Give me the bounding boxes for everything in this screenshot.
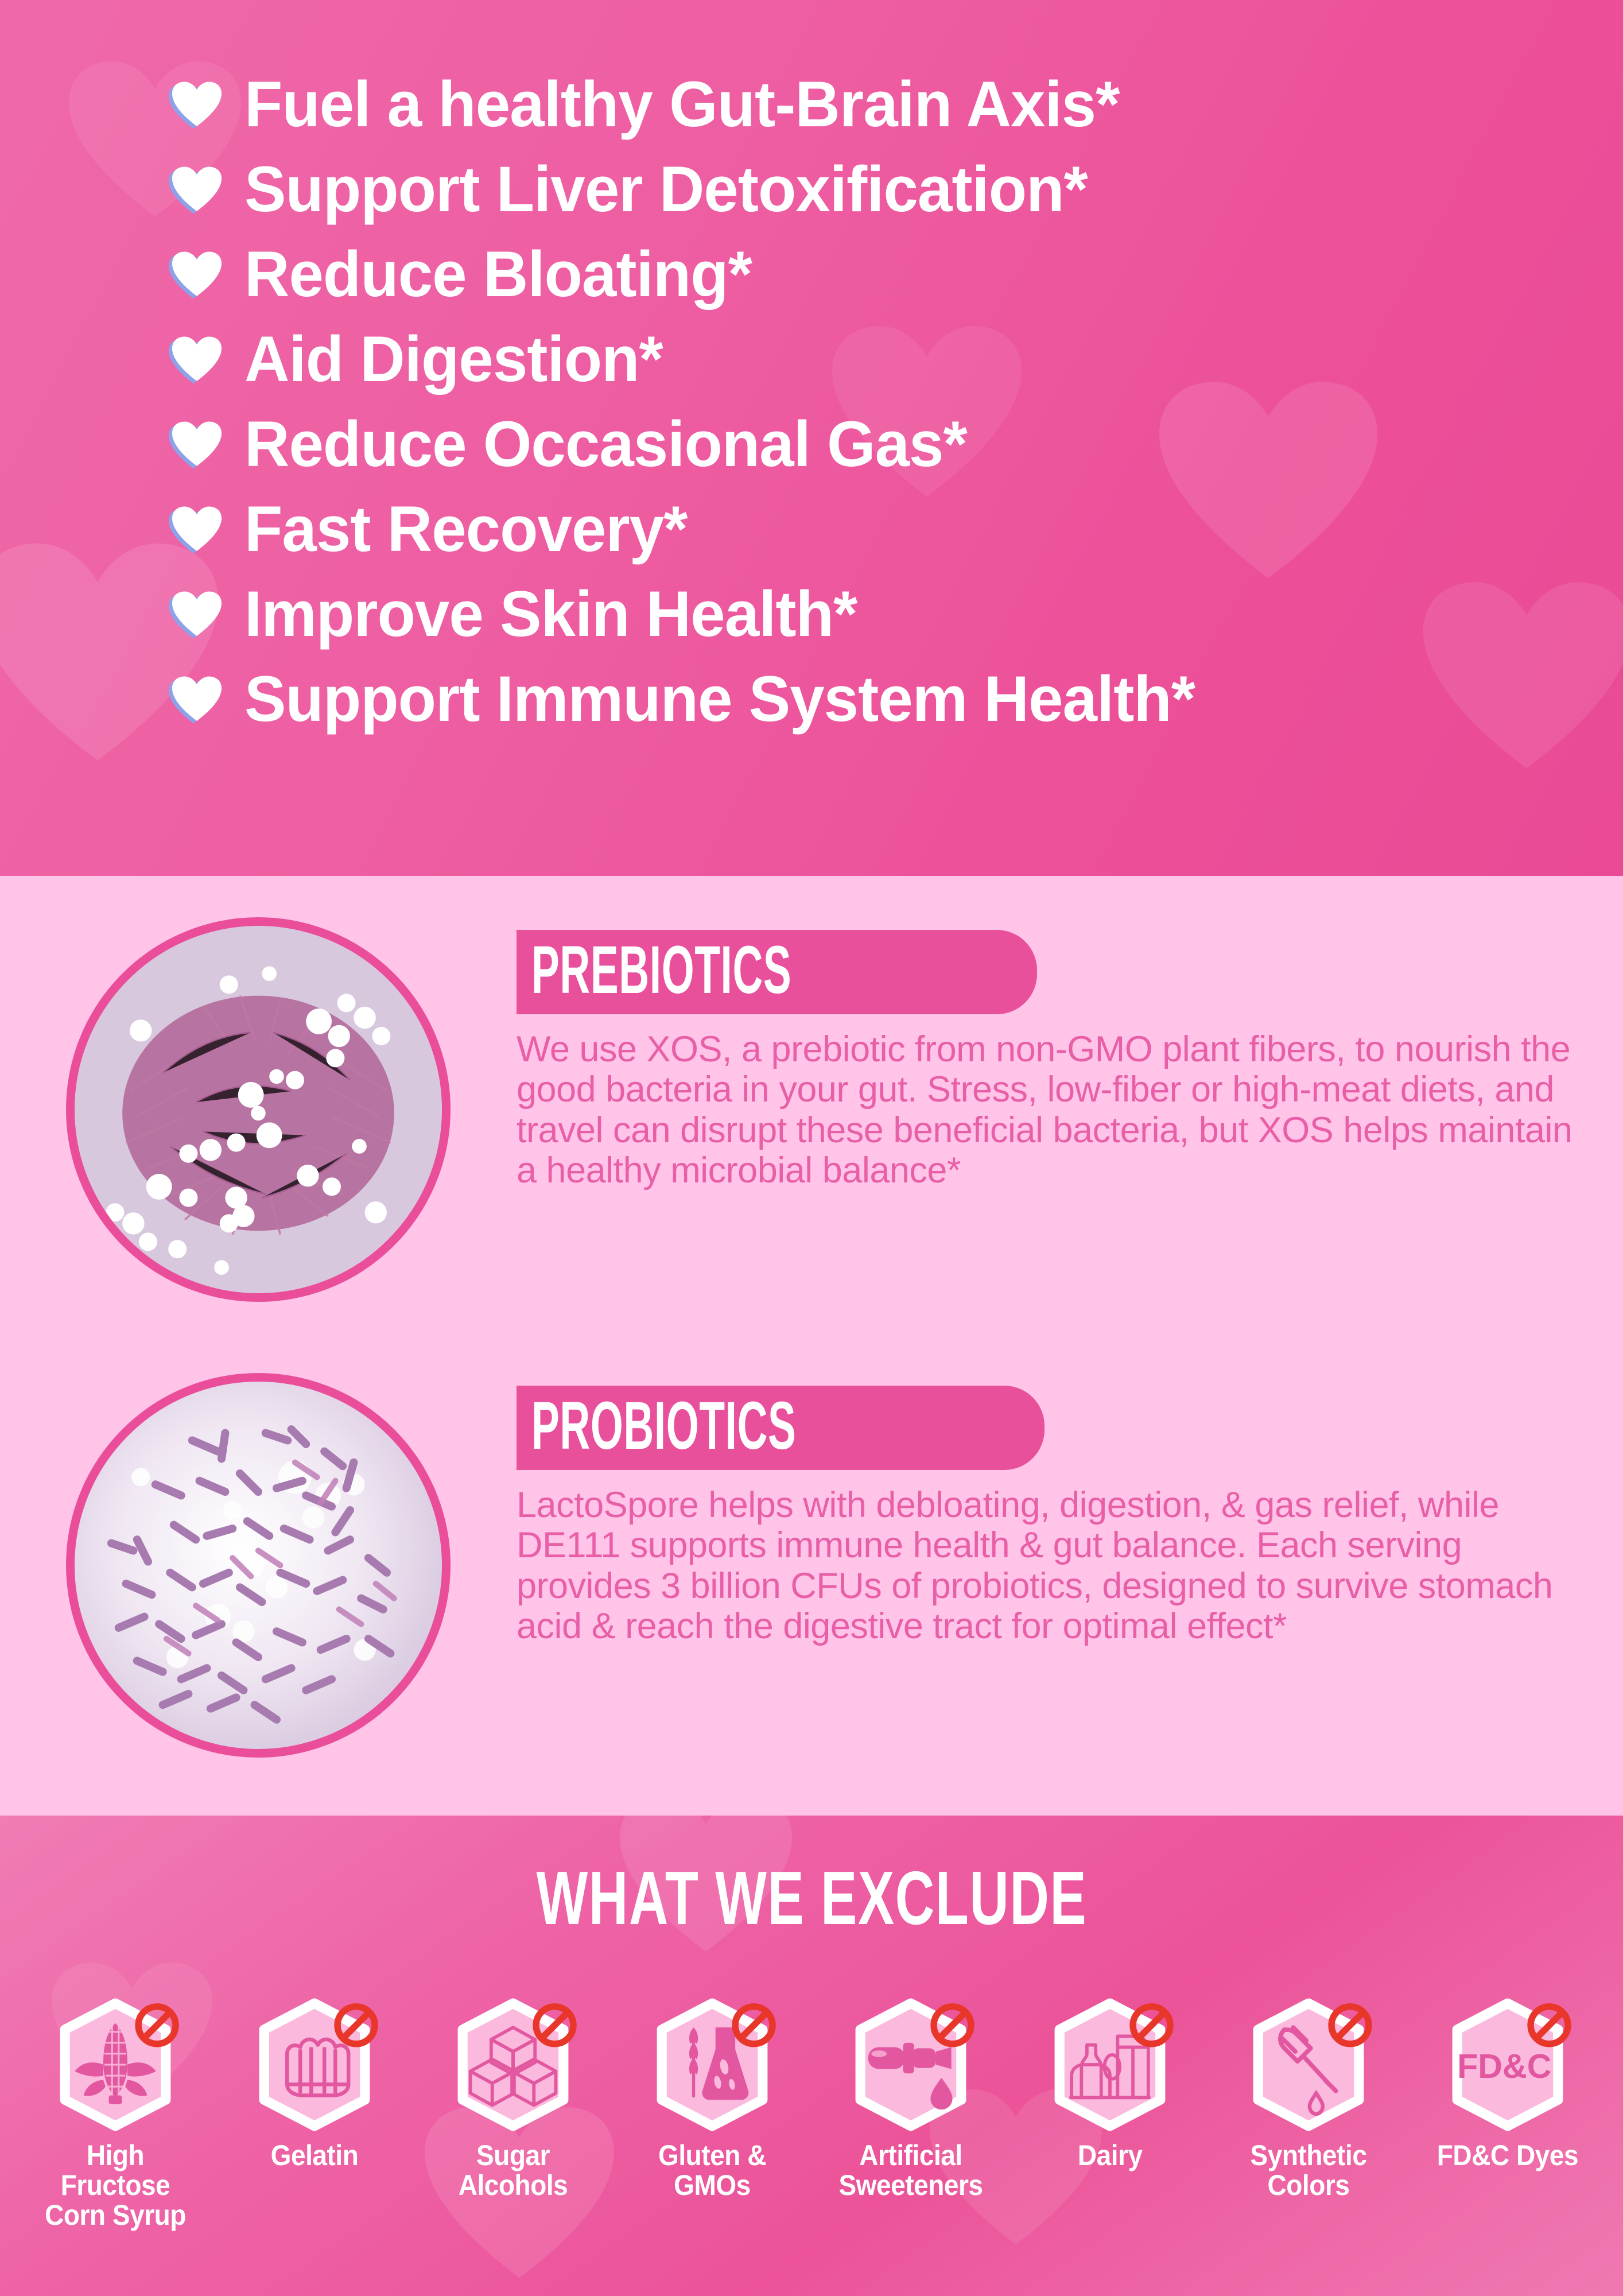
probiotics-tag: PROBIOTICS xyxy=(517,1386,1045,1470)
exclude-title-text: WHAT WE EXCLUDE xyxy=(536,1860,1087,1936)
dropper-drop-icon xyxy=(851,1998,971,2131)
probiotics-block: PROBIOTICS LactoSpore helps with debloat… xyxy=(0,1373,1623,1758)
benefit-label: Reduce Bloating* xyxy=(244,242,752,307)
exclude-item-label: Dairy xyxy=(1077,2140,1142,2170)
jelly-mold-icon xyxy=(254,1998,375,2131)
wheat-flask-icon xyxy=(652,1998,772,2131)
heart-icon xyxy=(172,676,222,722)
heart-icon xyxy=(172,166,222,212)
exclude-item-artificial-sweeteners: Artificial Sweeteners xyxy=(818,1998,1003,2230)
benefit-item: Fast Recovery* xyxy=(172,487,1578,572)
prebiotics-text: PREBIOTICS We use XOS, a prebiotic from … xyxy=(517,917,1584,1302)
corn-icon xyxy=(55,1998,176,2131)
probiotics-tag-label: PROBIOTICS xyxy=(531,1395,796,1457)
benefit-label: Support Immune System Health* xyxy=(244,667,1195,731)
benefit-label: Reduce Occasional Gas* xyxy=(244,412,967,476)
milk-carton-icon xyxy=(1050,1998,1170,2131)
benefit-label: Fast Recovery* xyxy=(244,497,687,561)
prebiotics-tag: PREBIOTICS xyxy=(517,930,1037,1014)
benefit-label: Fuel a healthy Gut-Brain Axis* xyxy=(244,72,1119,137)
benefit-item: Aid Digestion* xyxy=(172,317,1578,402)
exclude-item-label: Gelatin xyxy=(270,2140,358,2170)
exclude-title: WHAT WE EXCLUDE xyxy=(0,1860,1623,1936)
sugar-cubes-icon xyxy=(453,1998,573,2131)
exclude-item-gluten-gmos: Gluten & GMOs xyxy=(620,1998,805,2230)
exclude-item-label: FD&C Dyes xyxy=(1437,2140,1578,2170)
exclude-item-dairy: Dairy xyxy=(1018,1998,1202,2230)
infographic-page: Fuel a healthy Gut-Brain Axis* Support L… xyxy=(0,0,1623,2296)
benefit-item: Reduce Occasional Gas* xyxy=(172,402,1578,487)
exclude-item-label: Gluten & GMOs xyxy=(627,2140,797,2200)
heart-icon xyxy=(172,421,222,467)
prebiotics-tag-label: PREBIOTICS xyxy=(531,939,791,1002)
plant-fiber-microscopy-image xyxy=(75,926,442,1293)
biotics-section: PREBIOTICS We use XOS, a prebiotic from … xyxy=(0,876,1623,1816)
probiotics-image xyxy=(66,1373,451,1758)
exclude-item-fdc-dyes: FD&C FD&C Dyes xyxy=(1415,1998,1600,2230)
prebiotics-body: We use XOS, a prebiotic from non-GMO pla… xyxy=(517,1029,1572,1191)
heart-icon xyxy=(172,251,222,297)
benefit-item: Reduce Bloating* xyxy=(172,232,1578,317)
heart-icon xyxy=(172,591,222,637)
exclude-item-label: Sugar Alcohols xyxy=(428,2140,598,2200)
exclude-section: WHAT WE EXCLUDE xyxy=(0,1816,1623,2296)
exclude-item-gelatin: Gelatin xyxy=(222,1998,407,2230)
fdc-badge-text: FD&C xyxy=(1457,2047,1551,2085)
benefit-item: Support Immune System Health* xyxy=(172,657,1578,742)
prebiotics-block: PREBIOTICS We use XOS, a prebiotic from … xyxy=(0,917,1623,1302)
probiotics-text: PROBIOTICS LactoSpore helps with debloat… xyxy=(517,1373,1584,1758)
prebiotics-image xyxy=(66,917,451,1302)
exclude-item-label: High Fructose Corn Syrup xyxy=(30,2140,200,2230)
exclude-item-high-fructose-corn-syrup: High Fructose Corn Syrup xyxy=(23,1998,208,2230)
exclude-items-row: High Fructose Corn Syrup xyxy=(0,1998,1623,2230)
eyedropper-icon xyxy=(1248,1998,1369,2131)
exclude-item-synthetic-colors: Synthetic Colors xyxy=(1216,1998,1401,2230)
probiotic-bacteria-microscopy-image xyxy=(75,1382,442,1749)
heart-icon xyxy=(172,82,222,127)
fdc-text-icon: FD&C xyxy=(1447,1998,1568,2131)
benefits-section: Fuel a healthy Gut-Brain Axis* Support L… xyxy=(0,0,1623,876)
heart-icon xyxy=(172,506,222,552)
benefits-list: Fuel a healthy Gut-Brain Axis* Support L… xyxy=(172,62,1578,742)
benefit-label: Aid Digestion* xyxy=(244,327,663,391)
exclude-item-label: Synthetic Colors xyxy=(1224,2140,1393,2200)
exclude-item-sugar-alcohols: Sugar Alcohols xyxy=(421,1998,605,2230)
benefit-item: Fuel a healthy Gut-Brain Axis* xyxy=(172,62,1578,147)
benefit-item: Improve Skin Health* xyxy=(172,572,1578,657)
exclude-item-label: Artificial Sweeteners xyxy=(826,2140,996,2200)
benefit-label: Support Liver Detoxification* xyxy=(244,157,1088,222)
probiotics-body: LactoSpore helps with debloating, digest… xyxy=(517,1485,1572,1647)
heart-icon xyxy=(172,336,222,382)
benefit-label: Improve Skin Health* xyxy=(244,582,857,646)
benefit-item: Support Liver Detoxification* xyxy=(172,147,1578,232)
